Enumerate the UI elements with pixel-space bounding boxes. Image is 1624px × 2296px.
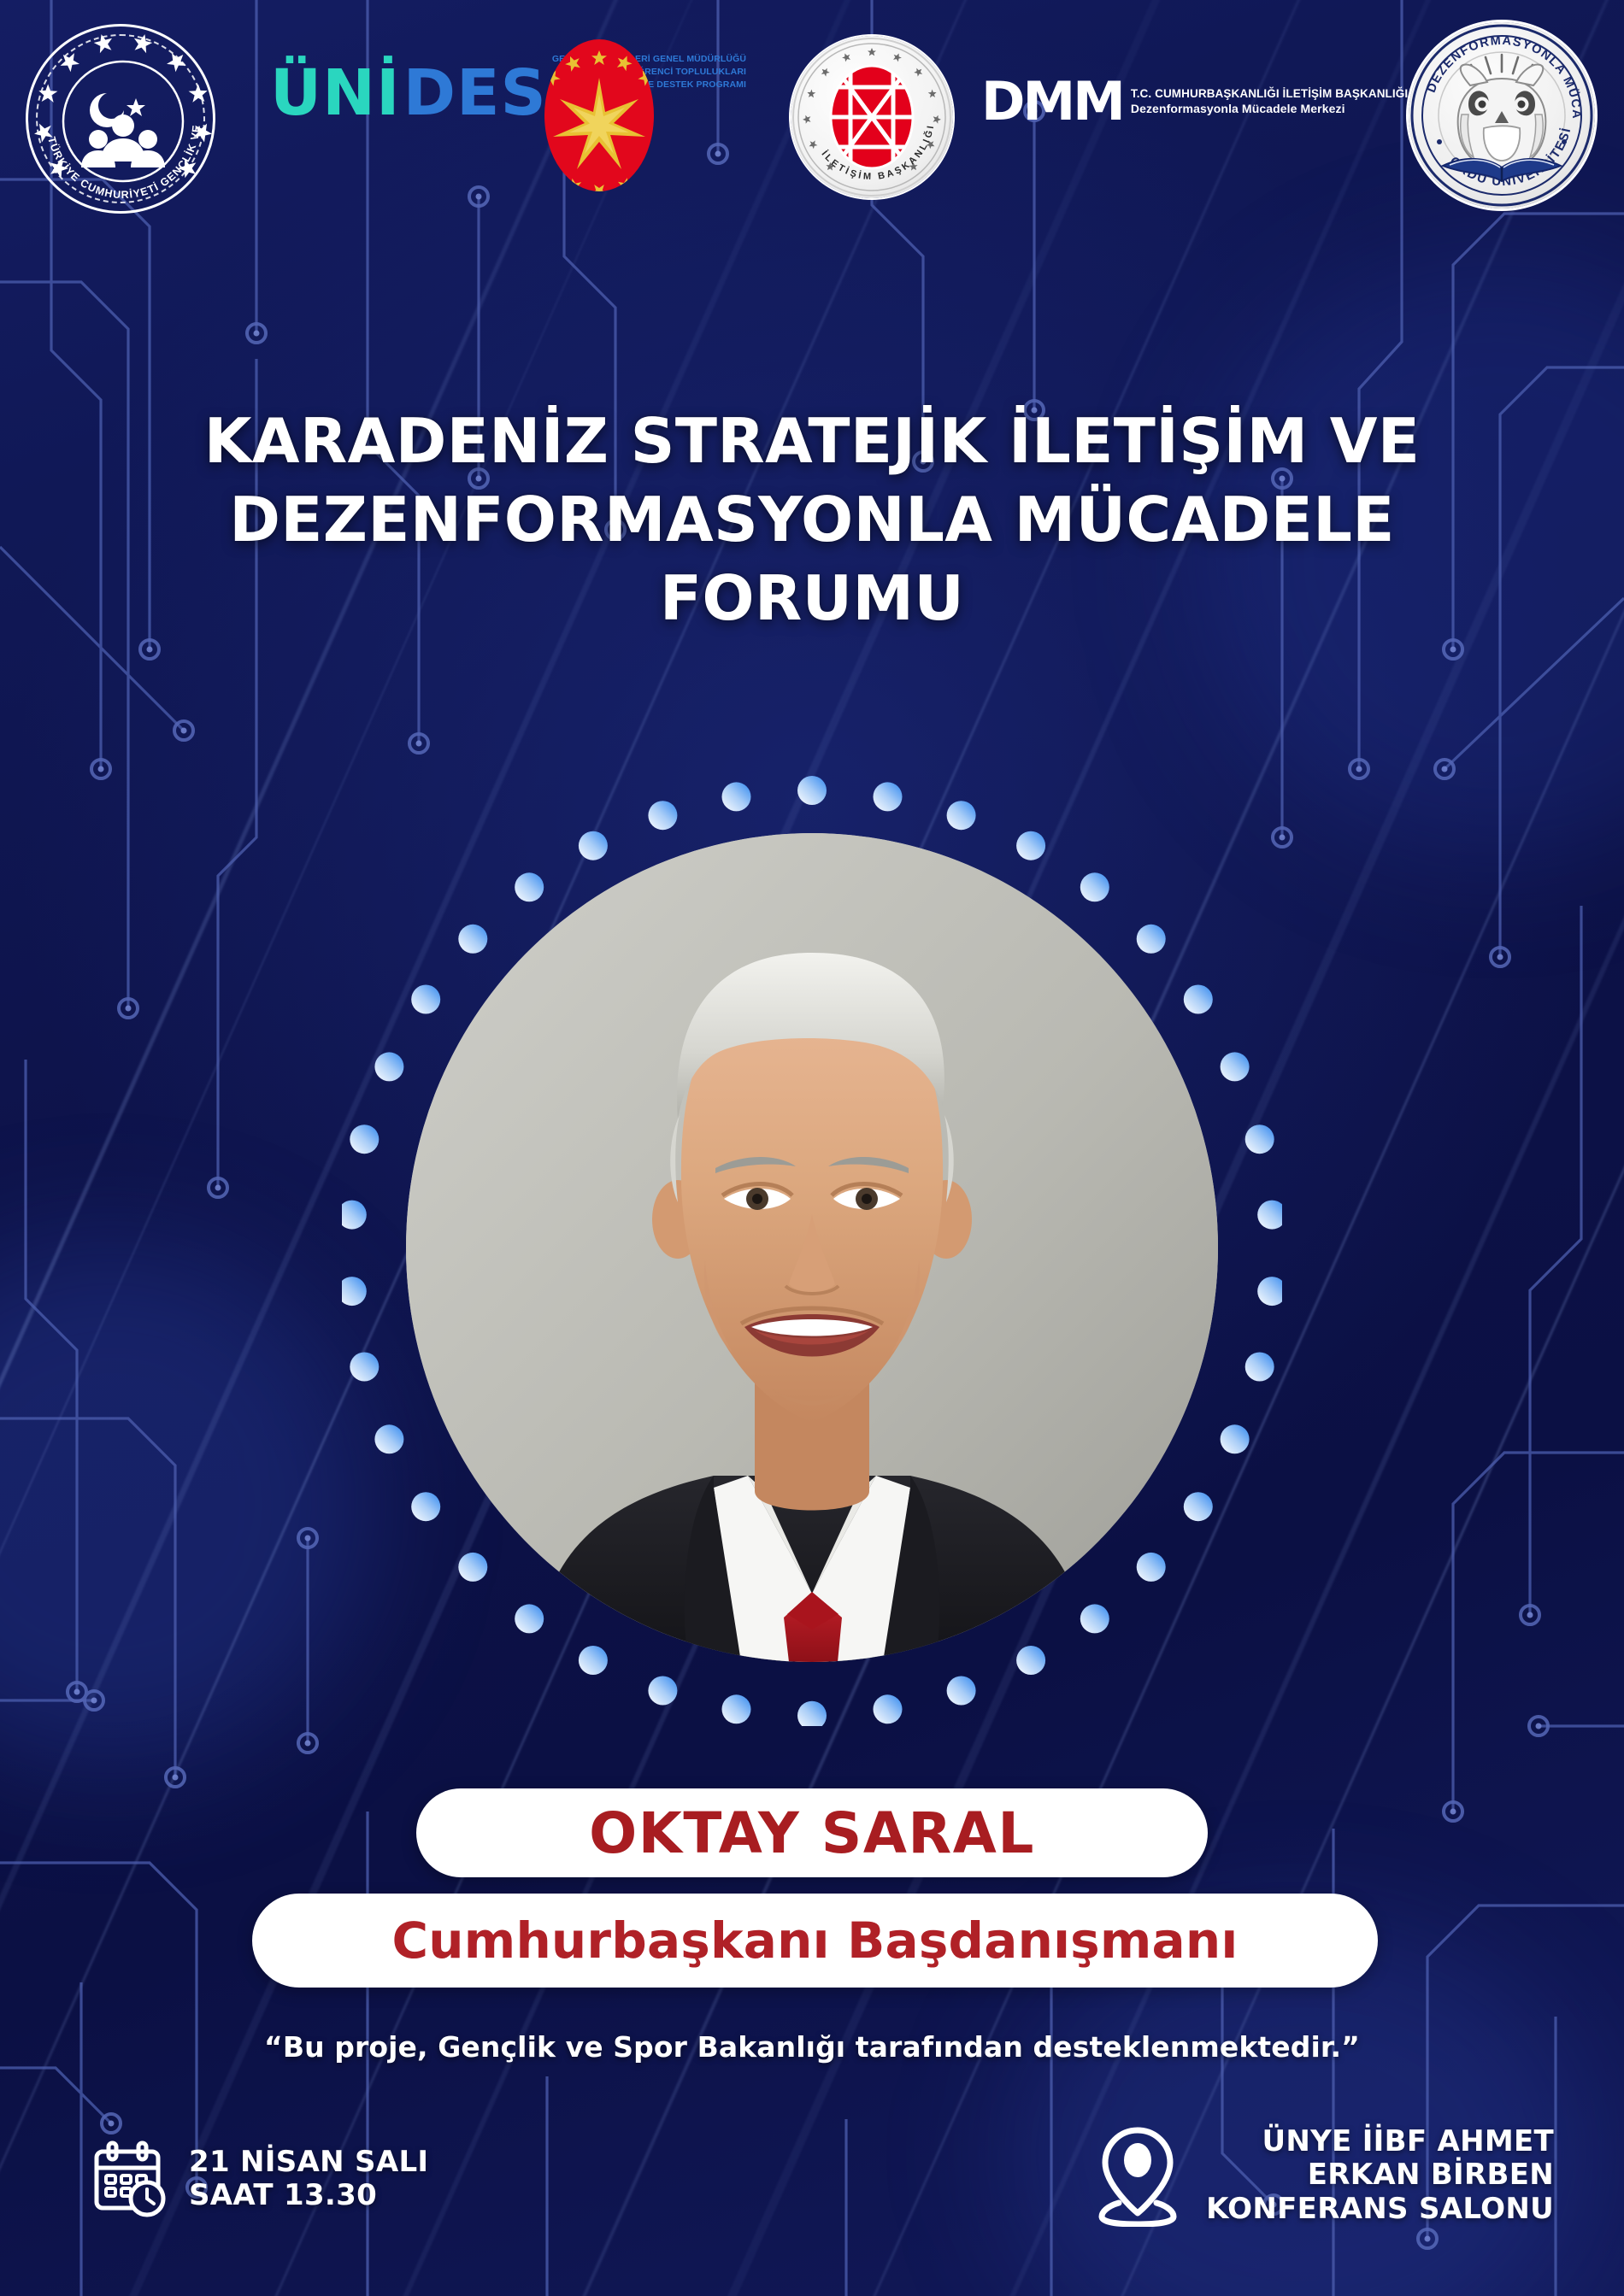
event-date-line1: 21 NİSAN SALI (189, 2146, 428, 2179)
support-note: “Bu proje, Gençlik ve Spor Bakanlığı tar… (0, 2030, 1624, 2064)
ministry-seal-icon: TÜRKİYE CUMHURİYETİ GENÇLİK VE SPOR BAKA… (26, 24, 215, 214)
svg-text:TÜRKİYE CUMHURİYETİ GENÇLİK VE: TÜRKİYE CUMHURİYETİ GENÇLİK VE SPOR BAKA… (28, 26, 203, 201)
poster-title-line3: FORUMU (120, 559, 1504, 637)
dmm-line2: Dezenformasyonla Mücadele Merkezi (1131, 101, 1408, 116)
unides-mark-des: DES (403, 68, 547, 120)
map-pin-icon (1091, 2124, 1184, 2227)
disinformation-club-owl-seal-icon: DEZENFORMASYONLA MÜCADELE KULÜBÜ ORDU ÜN… (1409, 22, 1595, 208)
logo-disinformation-club-ordu-university: DEZENFORMASYONLA MÜCADELE KULÜBÜ ORDU ÜN… (1409, 22, 1595, 208)
speaker-name: OKTAY SARAL (589, 1800, 1035, 1866)
poster-title-line2: DEZENFORMASYONLA MÜCADELE (120, 480, 1504, 559)
event-date-line2: SAAT 13.30 (189, 2179, 428, 2212)
logo-unides: ÜNİDES GENÇLİK HİZMETLERİ GENEL MÜDÜRLÜĞ… (270, 53, 746, 134)
speaker-role: Cumhurbaşkanı Başdanışmanı (392, 1911, 1239, 1970)
event-date-text: 21 NİSAN SALI SAAT 13.30 (189, 2146, 428, 2213)
background-glow-left (0, 1239, 376, 1769)
speaker-role-pill: Cumhurbaşkanı Başdanışmanı (252, 1894, 1378, 1988)
event-location-line1: ÜNYE İİBF AHMET (1206, 2125, 1554, 2158)
poster-title-line1: KARADENİZ STRATEJİK İLETİŞİM VE (120, 402, 1504, 480)
unides-wordmark-icon: ÜNİDES (270, 68, 547, 120)
turkish-presidency-emblem-icon (544, 39, 654, 191)
event-location-block: ÜNYE İİBF AHMET ERKAN BİRBEN KONFERANS S… (1091, 2124, 1554, 2227)
logo-directorate-of-communications: İLETİŞİM BAŞKANLIĞI (791, 36, 953, 198)
logo-ministry-of-youth-and-sports: TÜRKİYE CUMHURİYETİ GENÇLİK VE SPOR BAKA… (26, 24, 215, 214)
calendar-clock-icon (90, 2140, 168, 2218)
event-date-block: 21 NİSAN SALI SAAT 13.30 (90, 2140, 428, 2218)
unides-mark-uni: ÜNİ (270, 68, 401, 120)
speaker-name-pill: OKTAY SARAL (416, 1788, 1208, 1877)
dmm-mark: DMM (981, 80, 1123, 123)
speaker-photo (406, 833, 1218, 1662)
footer-info-bar: 21 NİSAN SALI SAAT 13.30 ÜNYE İİBF AHMET… (0, 2119, 1624, 2296)
dmm-text-block: T.C. CUMHURBAŞKANLIĞI İLETİŞİM BAŞKANLIĞ… (1131, 86, 1408, 117)
event-location-text: ÜNYE İİBF AHMET ERKAN BİRBEN KONFERANS S… (1206, 2125, 1554, 2226)
logo-turkish-presidency (544, 39, 654, 191)
dmm-logo-icon: DMM T.C. CUMHURBAŞKANLIĞI İLETİŞİM BAŞKA… (981, 80, 1408, 123)
speaker-portrait-block (342, 769, 1282, 1726)
dmm-line1: T.C. CUMHURBAŞKANLIĞI İLETİŞİM BAŞKANLIĞ… (1131, 86, 1408, 102)
communications-seal-icon: İLETİŞİM BAŞKANLIĞI (791, 36, 953, 198)
event-poster: TÜRKİYE CUMHURİYETİ GENÇLİK VE SPOR BAKA… (0, 0, 1624, 2296)
logo-dmm: DMM T.C. CUMHURBAŞKANLIĞI İLETİŞİM BAŞKA… (981, 80, 1408, 123)
event-location-line3: KONFERANS SALONU (1206, 2193, 1554, 2226)
poster-title: KARADENİZ STRATEJİK İLETİŞİM VE DEZENFOR… (0, 402, 1624, 637)
event-location-line2: ERKAN BİRBEN (1206, 2158, 1554, 2192)
logo-bar: TÜRKİYE CUMHURİYETİ GENÇLİK VE SPOR BAKA… (0, 12, 1624, 234)
